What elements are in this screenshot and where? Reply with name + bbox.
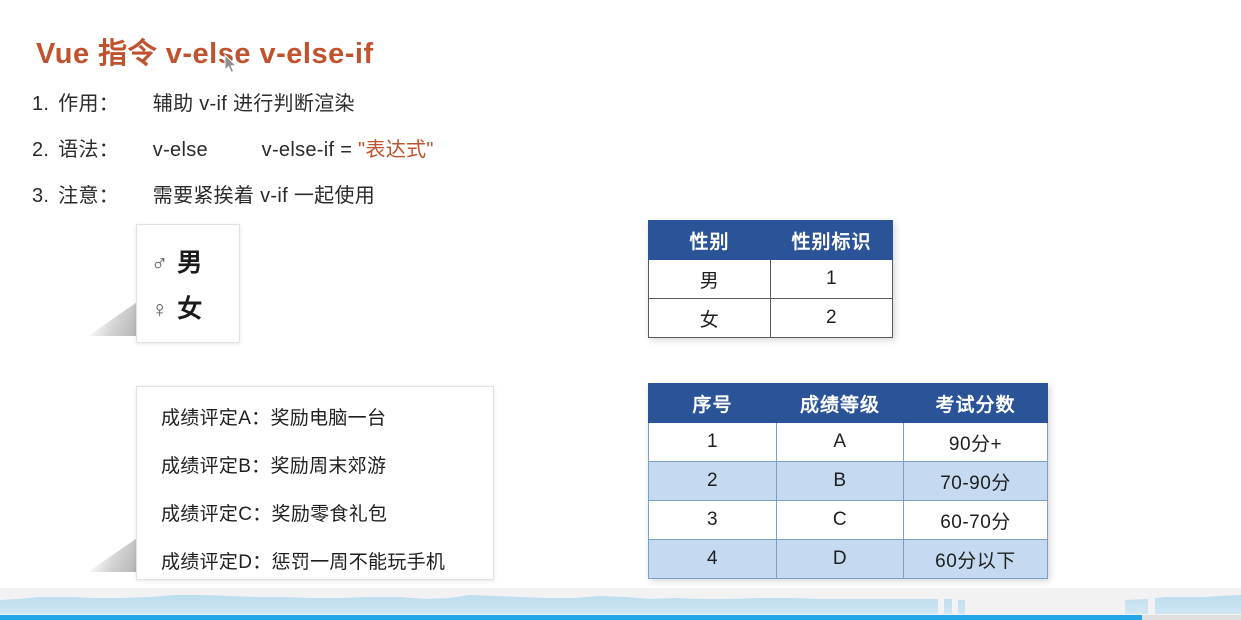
progress-fill[interactable] — [0, 615, 1142, 620]
bullet-1-number: 1. — [32, 93, 49, 115]
gender-reference-table: 性别 性别标识 男 1 女 2 — [648, 220, 893, 338]
table-header-row: 性别 性别标识 — [649, 221, 893, 260]
table-row: 4 D 60分以下 — [649, 540, 1048, 579]
video-player-bar[interactable] — [0, 588, 1241, 620]
male-symbol-icon: ♂ — [151, 250, 168, 277]
gender-card-label-male: 男 — [177, 243, 202, 279]
table-cell: 女 — [649, 299, 771, 338]
table-cell: 3 — [649, 501, 777, 540]
table-row: 男 1 — [649, 260, 893, 299]
progress-track[interactable] — [0, 615, 1241, 620]
audio-waveform — [0, 588, 1241, 614]
table-row: 3 C 60-70分 — [649, 501, 1048, 540]
bullet-line-3: 3. 注意： 需要紧挨着 v-if 一起使用 — [32, 179, 375, 208]
table-header-row: 序号 成绩等级 考试分数 — [649, 384, 1048, 423]
bullet-line-2: 2. 语法： v-else v-else-if = "表达式" — [32, 133, 434, 162]
table-cell: 1 — [649, 423, 777, 462]
gender-card: ♂ 男 ♀ 女 — [136, 224, 240, 343]
table-cell: D — [777, 540, 904, 579]
female-symbol-icon: ♀ — [151, 296, 168, 323]
grade-card-row: 成绩评定B：奖励周末郊游 — [161, 451, 386, 478]
gender-card-tail — [88, 300, 140, 336]
table-row: 2 B 70-90分 — [649, 462, 1048, 501]
page-title: Vue 指令 v-else v-else-if — [36, 30, 374, 72]
bullet-1-label: 作用： — [58, 93, 119, 115]
gender-card-label-female: 女 — [177, 289, 202, 325]
table-cell: 1 — [771, 260, 893, 299]
table-cell: 90分+ — [904, 423, 1048, 462]
bullet-2-label: 语法： — [58, 139, 119, 161]
bullet-1-text: 辅助 v-if 进行判断渲染 — [153, 93, 355, 115]
table-header-cell: 成绩等级 — [777, 384, 904, 423]
table-cell: 60-70分 — [904, 501, 1048, 540]
bullet-2-highlight: "表达式" — [358, 139, 434, 161]
table-cell: C — [777, 501, 904, 540]
table-cell: 60分以下 — [904, 540, 1048, 579]
bullet-2-number: 2. — [32, 139, 49, 161]
table-cell: 男 — [649, 260, 771, 299]
table-cell: 4 — [649, 540, 777, 579]
table-row: 1 A 90分+ — [649, 423, 1048, 462]
grade-card-tail — [88, 536, 140, 572]
table-header-cell: 性别标识 — [771, 221, 893, 260]
grade-card: 成绩评定A：奖励电脑一台 成绩评定B：奖励周末郊游 成绩评定C：奖励零食礼包 成… — [136, 386, 494, 580]
grade-card-row: 成绩评定C：奖励零食礼包 — [161, 499, 387, 526]
bullet-line-1: 1. 作用： 辅助 v-if 进行判断渲染 — [32, 87, 355, 116]
table-row: 女 2 — [649, 299, 893, 338]
table-cell: B — [777, 462, 904, 501]
bullet-2-text2: v-else-if = — [262, 139, 358, 161]
table-cell: 2 — [649, 462, 777, 501]
bullet-3-text: 需要紧挨着 v-if 一起使用 — [153, 185, 375, 207]
bullet-3-label: 注意： — [58, 185, 119, 207]
table-cell: 2 — [771, 299, 893, 338]
grade-card-row: 成绩评定D：惩罚一周不能玩手机 — [161, 547, 445, 574]
gender-card-row-male: ♂ 男 — [151, 243, 202, 279]
grade-reference-table: 序号 成绩等级 考试分数 1 A 90分+ 2 B 70-90分 3 C 60-… — [648, 383, 1048, 579]
gender-card-row-female: ♀ 女 — [151, 289, 202, 325]
slide-canvas: Vue 指令 v-else v-else-if 1. 作用： 辅助 v-if 进… — [0, 0, 1241, 596]
bullet-3-number: 3. — [32, 185, 49, 207]
table-header-cell: 性别 — [649, 221, 771, 260]
table-header-cell: 考试分数 — [904, 384, 1048, 423]
table-cell: 70-90分 — [904, 462, 1048, 501]
table-cell: A — [777, 423, 904, 462]
table-header-cell: 序号 — [649, 384, 777, 423]
bullet-2-text: v-else — [153, 139, 208, 161]
grade-card-row: 成绩评定A：奖励电脑一台 — [161, 403, 386, 430]
